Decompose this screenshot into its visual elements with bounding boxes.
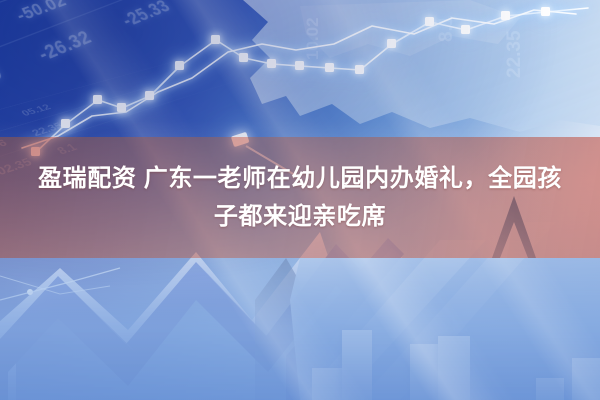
headline-line-2: 子都来迎亲吃席 xyxy=(214,200,386,234)
headline-line-1: 盈瑞配资 广东一老师在幼儿园内办婚礼，全园孩 xyxy=(38,162,562,196)
news-thumbnail-image: -02.35 -11.25 +45.02 21.0 -02.35 -11.25 … xyxy=(0,0,600,400)
headline: 盈瑞配资 广东一老师在幼儿园内办婚礼，全园孩 子都来迎亲吃席 xyxy=(0,137,600,258)
